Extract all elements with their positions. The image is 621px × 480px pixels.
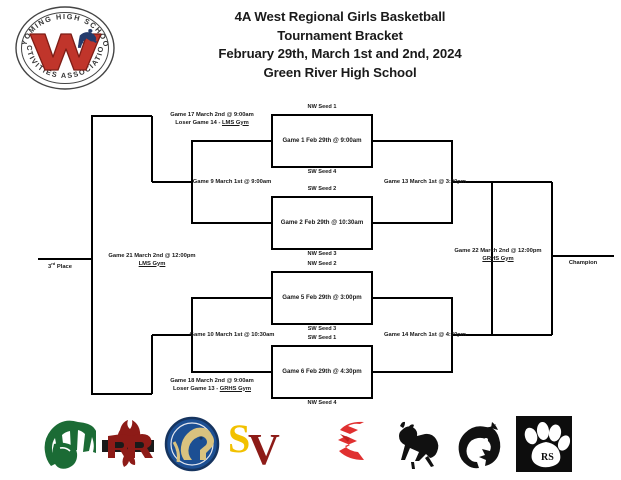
game-9-label: Game 9 March 1st @ 9:00am bbox=[193, 179, 271, 185]
spartan-helmet-logo bbox=[32, 412, 96, 476]
game-1-label: Game 1 Feb 29th @ 9:00am bbox=[282, 137, 361, 144]
sv-letters-logo: S V bbox=[224, 412, 288, 476]
game-2-top-seed: SW Seed 2 bbox=[308, 186, 337, 192]
bucking-bronc-logo bbox=[384, 412, 448, 476]
game-5-top-seed: NW Seed 2 bbox=[308, 261, 337, 267]
mustang-circle-logo bbox=[160, 412, 224, 476]
page-title: 4A West Regional Girls Basketball Tourna… bbox=[120, 8, 560, 82]
title-line-3: February 29th, March 1st and 2nd, 2024 bbox=[120, 45, 560, 64]
game-22-info: Game 22 March 2nd @ 12:00pm GRHS Gym bbox=[454, 248, 541, 263]
svg-text:RS: RS bbox=[541, 452, 554, 463]
paw-print-logo: RS bbox=[512, 412, 576, 476]
game-13-label: Game 13 March 1st @ 3:00pm bbox=[384, 179, 466, 185]
game-2-label: Game 2 Feb 29th @ 10:30am bbox=[281, 219, 364, 226]
third-place-suffix: rd bbox=[51, 261, 55, 266]
game-17-line-2: Loser Game 14 - LMS Gym bbox=[170, 120, 254, 128]
game-5-bottom-seed: SW Seed 3 bbox=[308, 326, 337, 332]
game-21-line-1: Game 21 March 2nd @ 12:00pm bbox=[108, 253, 195, 261]
e-letter-logo bbox=[320, 412, 384, 476]
title-line-1: 4A West Regional Girls Basketball bbox=[120, 8, 560, 27]
champion-label: Champion bbox=[569, 260, 597, 266]
team-logos-strip: S V bbox=[0, 408, 621, 480]
game-18-gym: GRHS Gym bbox=[220, 386, 251, 392]
game-21-info: Game 21 March 2nd @ 12:00pm LMS Gym bbox=[108, 253, 195, 268]
game-18-line-1: Game 18 March 2nd @ 9:00am bbox=[170, 378, 254, 386]
game-18-info: Game 18 March 2nd @ 9:00am Loser Game 13… bbox=[170, 378, 254, 393]
game-18-line-2: Loser Game 13 - GRHS Gym bbox=[170, 386, 254, 394]
game-1-top-seed: NW Seed 1 bbox=[308, 104, 337, 110]
game-5-label: Game 5 Feb 29th @ 3:00pm bbox=[282, 294, 361, 301]
game-18-loser-text: Loser Game 13 - bbox=[173, 386, 220, 392]
third-place-label: 3rd Place bbox=[48, 261, 72, 270]
svg-text:S: S bbox=[228, 416, 250, 461]
game-6-label: Game 6 Feb 29th @ 4:30pm bbox=[282, 368, 361, 375]
page-header: WYOMING HIGH SCHOOL ACTIVITIES ASSOCIATI… bbox=[0, 0, 621, 100]
game-6-top-seed: SW Seed 1 bbox=[308, 335, 337, 341]
rr-flames-logo bbox=[96, 412, 160, 476]
tournament-bracket: NW Seed 1 Game 1 Feb 29th @ 9:00am SW Se… bbox=[0, 96, 621, 406]
game-1-bottom-seed: SW Seed 4 bbox=[308, 169, 337, 175]
game-17-loser-text: Loser Game 14 - bbox=[175, 120, 222, 126]
game-14-label: Game 14 March 1st @ 4:30pm bbox=[384, 332, 466, 338]
game-22-line-1: Game 22 March 2nd @ 12:00pm bbox=[454, 248, 541, 256]
title-line-2: Tournament Bracket bbox=[120, 27, 560, 46]
wyoming-hsaa-logo: WYOMING HIGH SCHOOL ACTIVITIES ASSOCIATI… bbox=[14, 4, 116, 92]
panther-head-logo bbox=[448, 412, 512, 476]
game-17-gym: LMS Gym bbox=[222, 120, 249, 126]
bracket-page: WYOMING HIGH SCHOOL ACTIVITIES ASSOCIATI… bbox=[0, 0, 621, 480]
game-6-bottom-seed: NW Seed 4 bbox=[308, 400, 337, 406]
game-21-gym: LMS Gym bbox=[108, 261, 195, 269]
svg-text:V: V bbox=[248, 425, 280, 474]
title-line-4: Green River High School bbox=[120, 64, 560, 83]
game-22-gym: GRHS Gym bbox=[454, 256, 541, 264]
game-10-label: Game 10 March 1st @ 10:30am bbox=[190, 332, 275, 338]
game-17-info: Game 17 March 2nd @ 9:00am Loser Game 14… bbox=[170, 112, 254, 127]
game-17-line-1: Game 17 March 2nd @ 9:00am bbox=[170, 112, 254, 120]
game-2-bottom-seed: NW Seed 3 bbox=[308, 251, 337, 257]
